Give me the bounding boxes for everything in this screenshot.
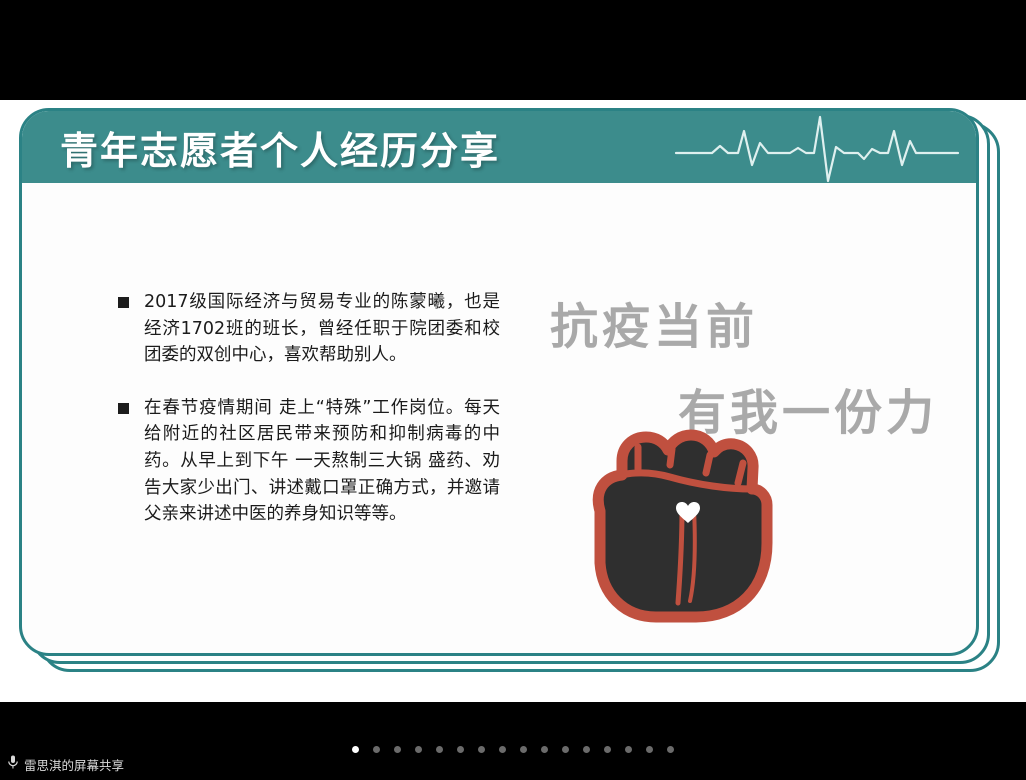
meeting-screen-share-view: 青年志愿者个人经历分享 2017级国际经济与贸易专业的陈蒙曦，也是经济1702班… [0, 0, 1026, 780]
bottom-bar: 雷思淇的屏幕共享 [0, 702, 1026, 780]
raised-fist-with-heart-icon [574, 399, 784, 644]
pagination-dot[interactable] [478, 746, 485, 753]
pagination-dot[interactable] [604, 746, 611, 753]
presentation-slide: 青年志愿者个人经历分享 2017级国际经济与贸易专业的陈蒙曦，也是经济1702班… [19, 108, 979, 656]
slide-header-band: 青年志愿者个人经历分享 [22, 111, 976, 183]
bullet-list: 2017级国际经济与贸易专业的陈蒙曦，也是经济1702班的班长，曾经任职于院团委… [110, 289, 500, 554]
pagination-dot[interactable] [457, 746, 464, 753]
pagination-dot[interactable] [562, 746, 569, 753]
pagination-dot[interactable] [520, 746, 527, 753]
pagination-dot[interactable] [499, 746, 506, 753]
microphone-icon [8, 755, 18, 774]
slide-pagination-dots[interactable] [0, 746, 1026, 753]
pagination-dot[interactable] [436, 746, 443, 753]
square-bullet-icon [118, 403, 129, 414]
page-title: 青年志愿者个人经历分享 [60, 120, 500, 175]
pagination-dot[interactable] [394, 746, 401, 753]
pagination-dot[interactable] [583, 746, 590, 753]
pagination-dot[interactable] [373, 746, 380, 753]
screen-share-status-label: 雷思淇的屏幕共享 [24, 755, 124, 774]
pagination-dot[interactable] [625, 746, 632, 753]
screen-share-status: 雷思淇的屏幕共享 [8, 755, 124, 774]
shared-screen-canvas[interactable]: 青年志愿者个人经历分享 2017级国际经济与贸易专业的陈蒙曦，也是经济1702班… [0, 100, 1026, 702]
pagination-dot[interactable] [541, 746, 548, 753]
slogan-line-1: 抗疫当前 [550, 287, 758, 357]
ecg-heartbeat-line-icon [672, 113, 962, 183]
list-item: 在春节疫情期间 走上“特殊”工作岗位。每天给附近的社区居民带来预防和抑制病毒的中… [110, 395, 500, 528]
pagination-dot[interactable] [415, 746, 422, 753]
list-item: 2017级国际经济与贸易专业的陈蒙曦，也是经济1702班的班长，曾经任职于院团委… [110, 289, 500, 369]
bullet-text: 在春节疫情期间 走上“特殊”工作岗位。每天给附近的社区居民带来预防和抑制病毒的中… [144, 395, 500, 528]
pagination-dot[interactable] [667, 746, 674, 753]
pagination-dot[interactable] [646, 746, 653, 753]
square-bullet-icon [118, 297, 129, 308]
bullet-text: 2017级国际经济与贸易专业的陈蒙曦，也是经济1702班的班长，曾经任职于院团委… [144, 289, 500, 369]
pagination-dot[interactable] [352, 746, 359, 753]
